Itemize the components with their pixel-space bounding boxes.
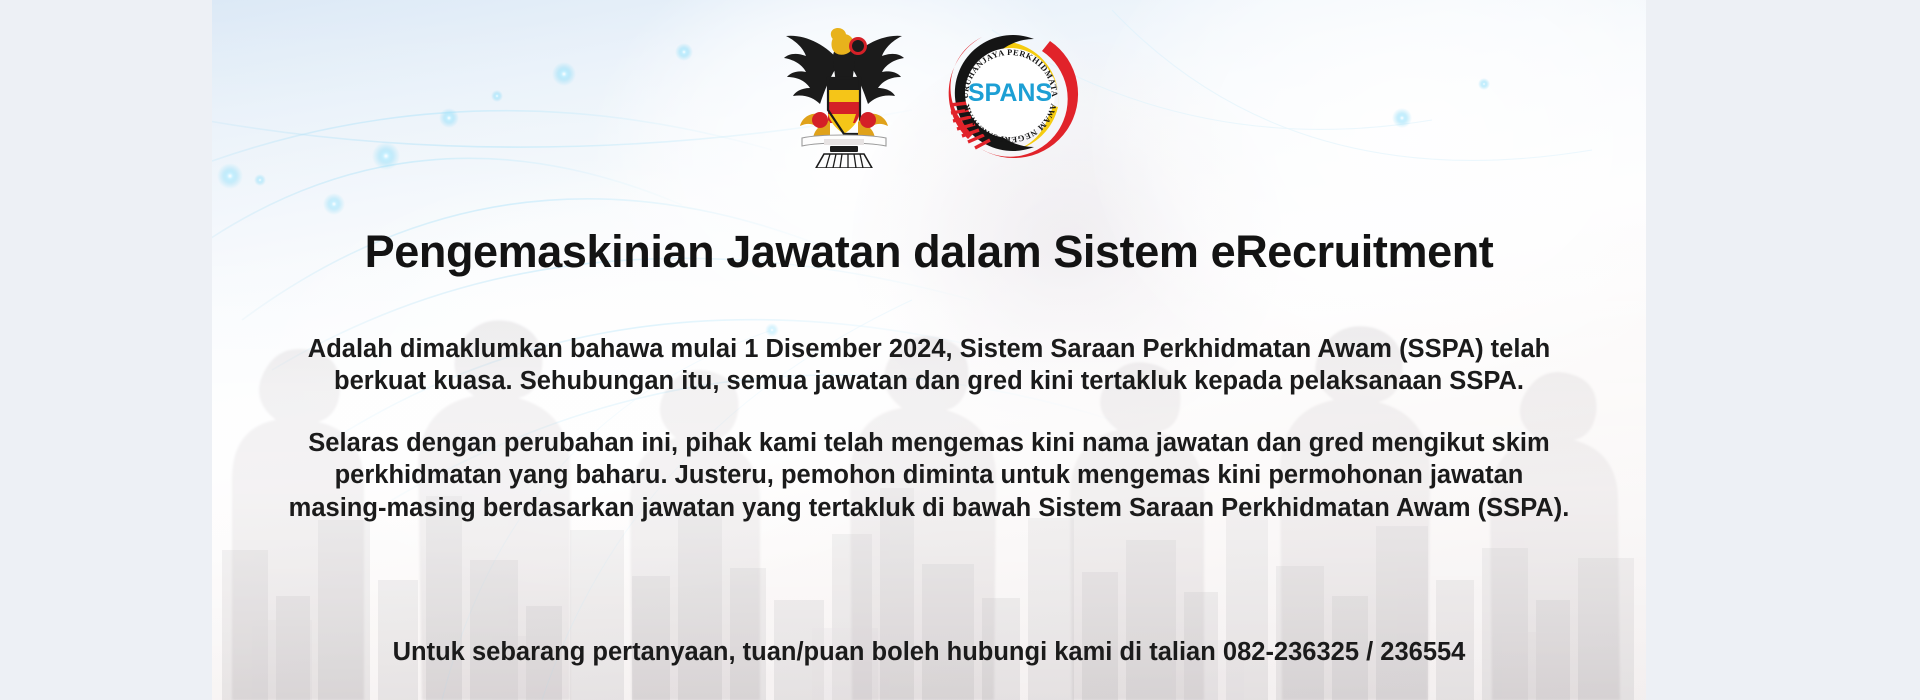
logo-row: SURUHANJAYA PERKHIDMATAN AWAM NEGERI SAR… (212, 18, 1646, 168)
sarawak-coat-of-arms-icon (776, 18, 912, 168)
spans-wordmark: SPANS (968, 79, 1052, 107)
contact-line: Untuk sebarang pertanyaan, tuan/puan bol… (212, 636, 1646, 668)
announcement-banner: SURUHANJAYA PERKHIDMATAN AWAM NEGERI SAR… (212, 0, 1646, 700)
page-title: Pengemaskinian Jawatan dalam Sistem eRec… (212, 228, 1646, 275)
spans-logo-icon: SURUHANJAYA PERKHIDMATAN AWAM NEGERI SAR… (938, 21, 1082, 165)
page-background: SURUHANJAYA PERKHIDMATAN AWAM NEGERI SAR… (0, 0, 1920, 700)
announcement-paragraph-1: Adalah dimaklumkan bahawa mulai 1 Disemb… (284, 333, 1574, 398)
announcement-paragraph-2: Selaras dengan perubahan ini, pihak kami… (284, 427, 1574, 524)
banner-content: SURUHANJAYA PERKHIDMATAN AWAM NEGERI SAR… (212, 0, 1646, 700)
